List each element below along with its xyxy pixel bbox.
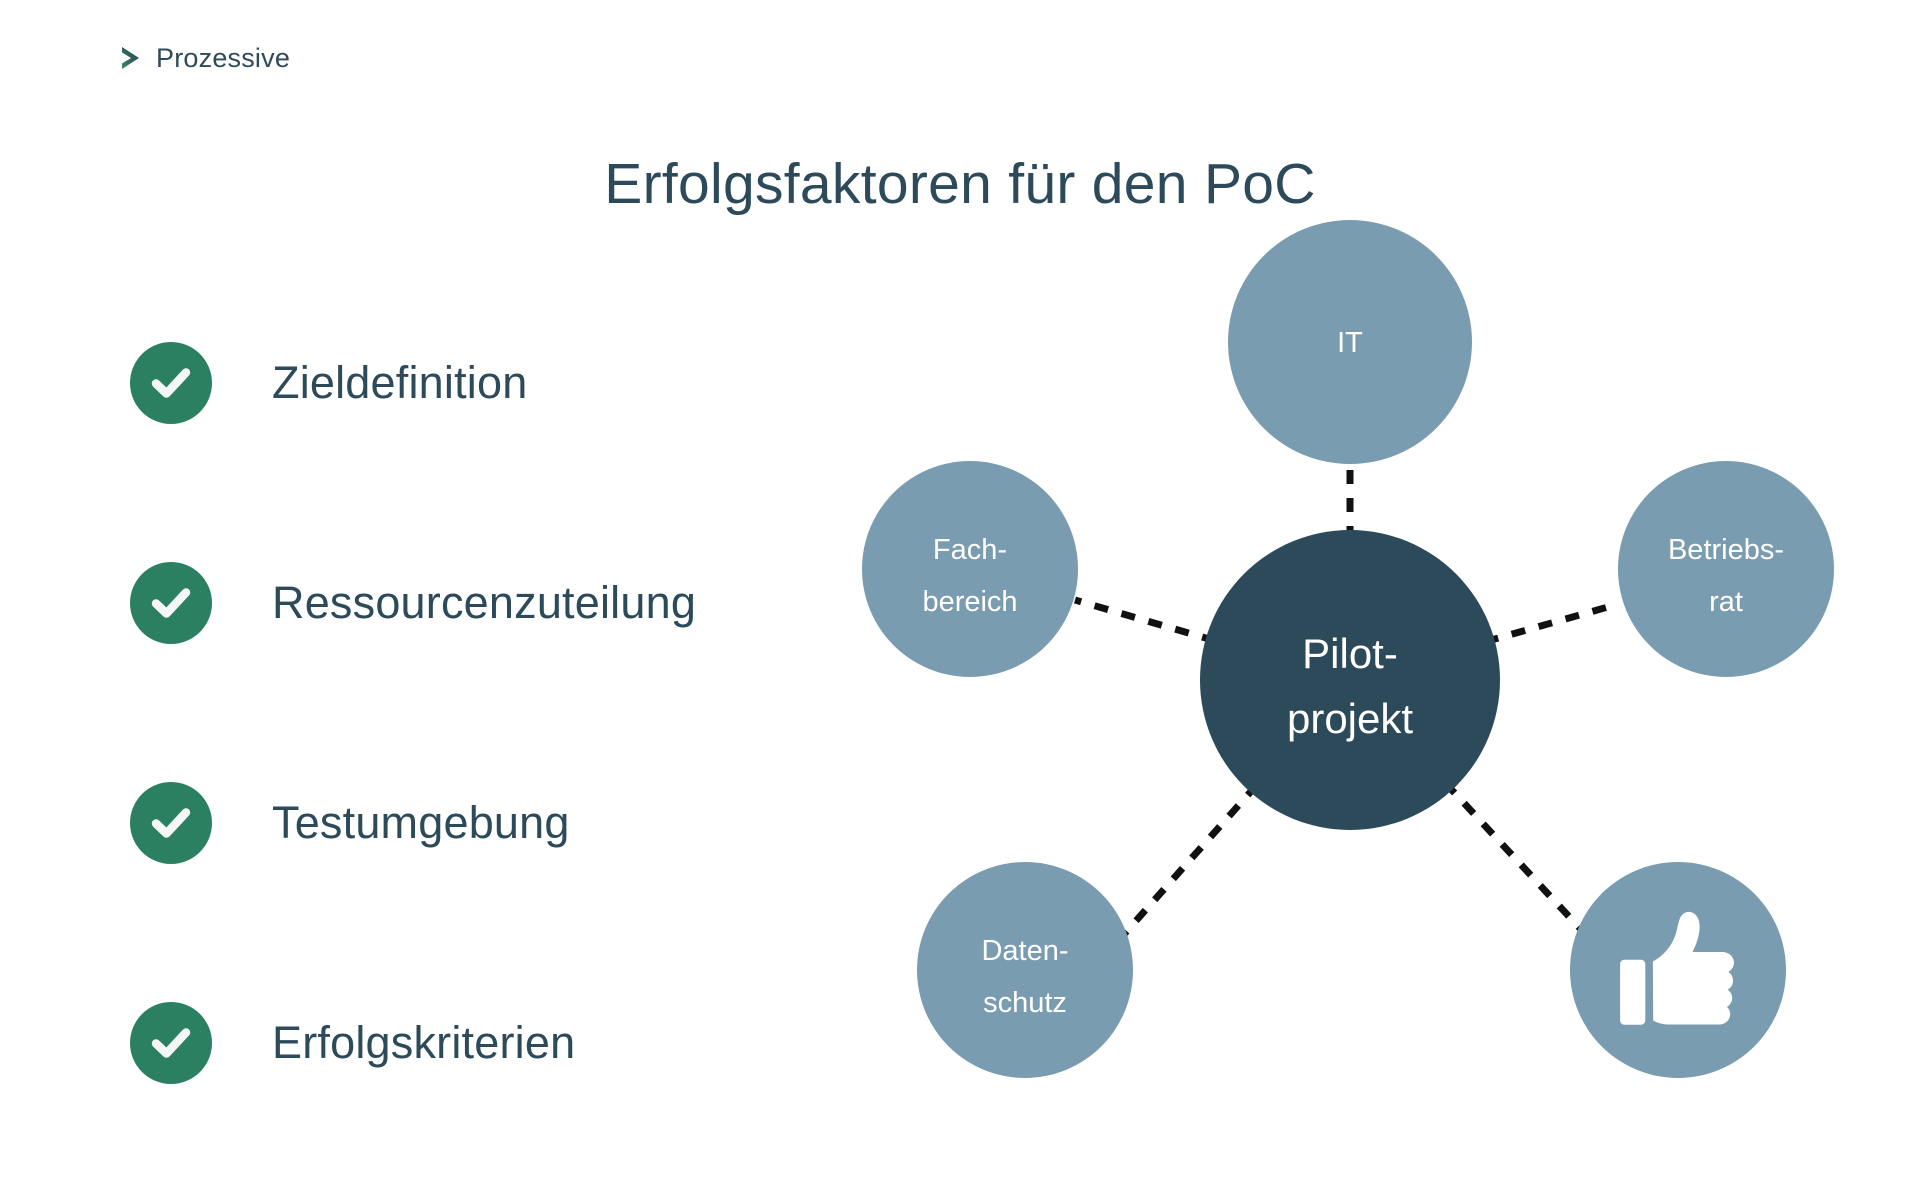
pilot-project-diagram: IT Betriebs- rat Daten- schutz Fach- ber [860, 190, 1860, 1120]
list-item: Erfolgskriterien [130, 1000, 870, 1086]
diagram-node-akzeptanz[interactable] [1570, 862, 1786, 1078]
node-label-line2: projekt [1287, 695, 1413, 742]
diagram-node-it[interactable]: IT [1228, 220, 1472, 464]
diagram-node-betriebsrat[interactable]: Betriebs- rat [1618, 461, 1834, 677]
node-label-line1: Fach- [933, 534, 1007, 566]
check-icon [130, 562, 212, 644]
list-item: Zieldefinition [130, 340, 870, 426]
list-item-label: Testumgebung [272, 797, 570, 849]
list-item-label: Erfolgskriterien [272, 1017, 575, 1069]
node-label-line1: Pilot- [1302, 630, 1398, 677]
diagram-node-datenschutz[interactable]: Daten- schutz [917, 862, 1133, 1078]
node-circle [917, 862, 1133, 1078]
node-circle [1618, 461, 1834, 677]
check-icon [130, 782, 212, 864]
brand-logo: Prozessive [116, 41, 290, 75]
node-label-line2: schutz [983, 987, 1067, 1019]
diagram-node-fachbereich[interactable]: Fach- bereich [862, 461, 1078, 677]
node-label-line2: bereich [922, 586, 1017, 618]
node-label-line1: Daten- [981, 935, 1068, 967]
node-circle [1200, 530, 1500, 830]
node-circle [862, 461, 1078, 677]
node-label-line2: rat [1709, 586, 1743, 618]
list-item: Ressourcenzuteilung [130, 560, 870, 646]
check-icon [130, 342, 212, 424]
list-item: Testumgebung [130, 780, 870, 866]
node-label-line1: IT [1337, 327, 1363, 359]
check-icon [130, 1002, 212, 1084]
node-label-line1: Betriebs- [1668, 534, 1784, 566]
success-factors-list: Zieldefinition Ressourcenzuteilung Testu… [130, 340, 870, 1086]
diagram-node-pilotprojekt[interactable]: Pilot- projekt [1200, 530, 1500, 830]
chevron-right-icon [116, 41, 150, 75]
brand-name: Prozessive [156, 45, 290, 72]
list-item-label: Ressourcenzuteilung [272, 577, 696, 629]
list-item-label: Zieldefinition [272, 357, 527, 409]
